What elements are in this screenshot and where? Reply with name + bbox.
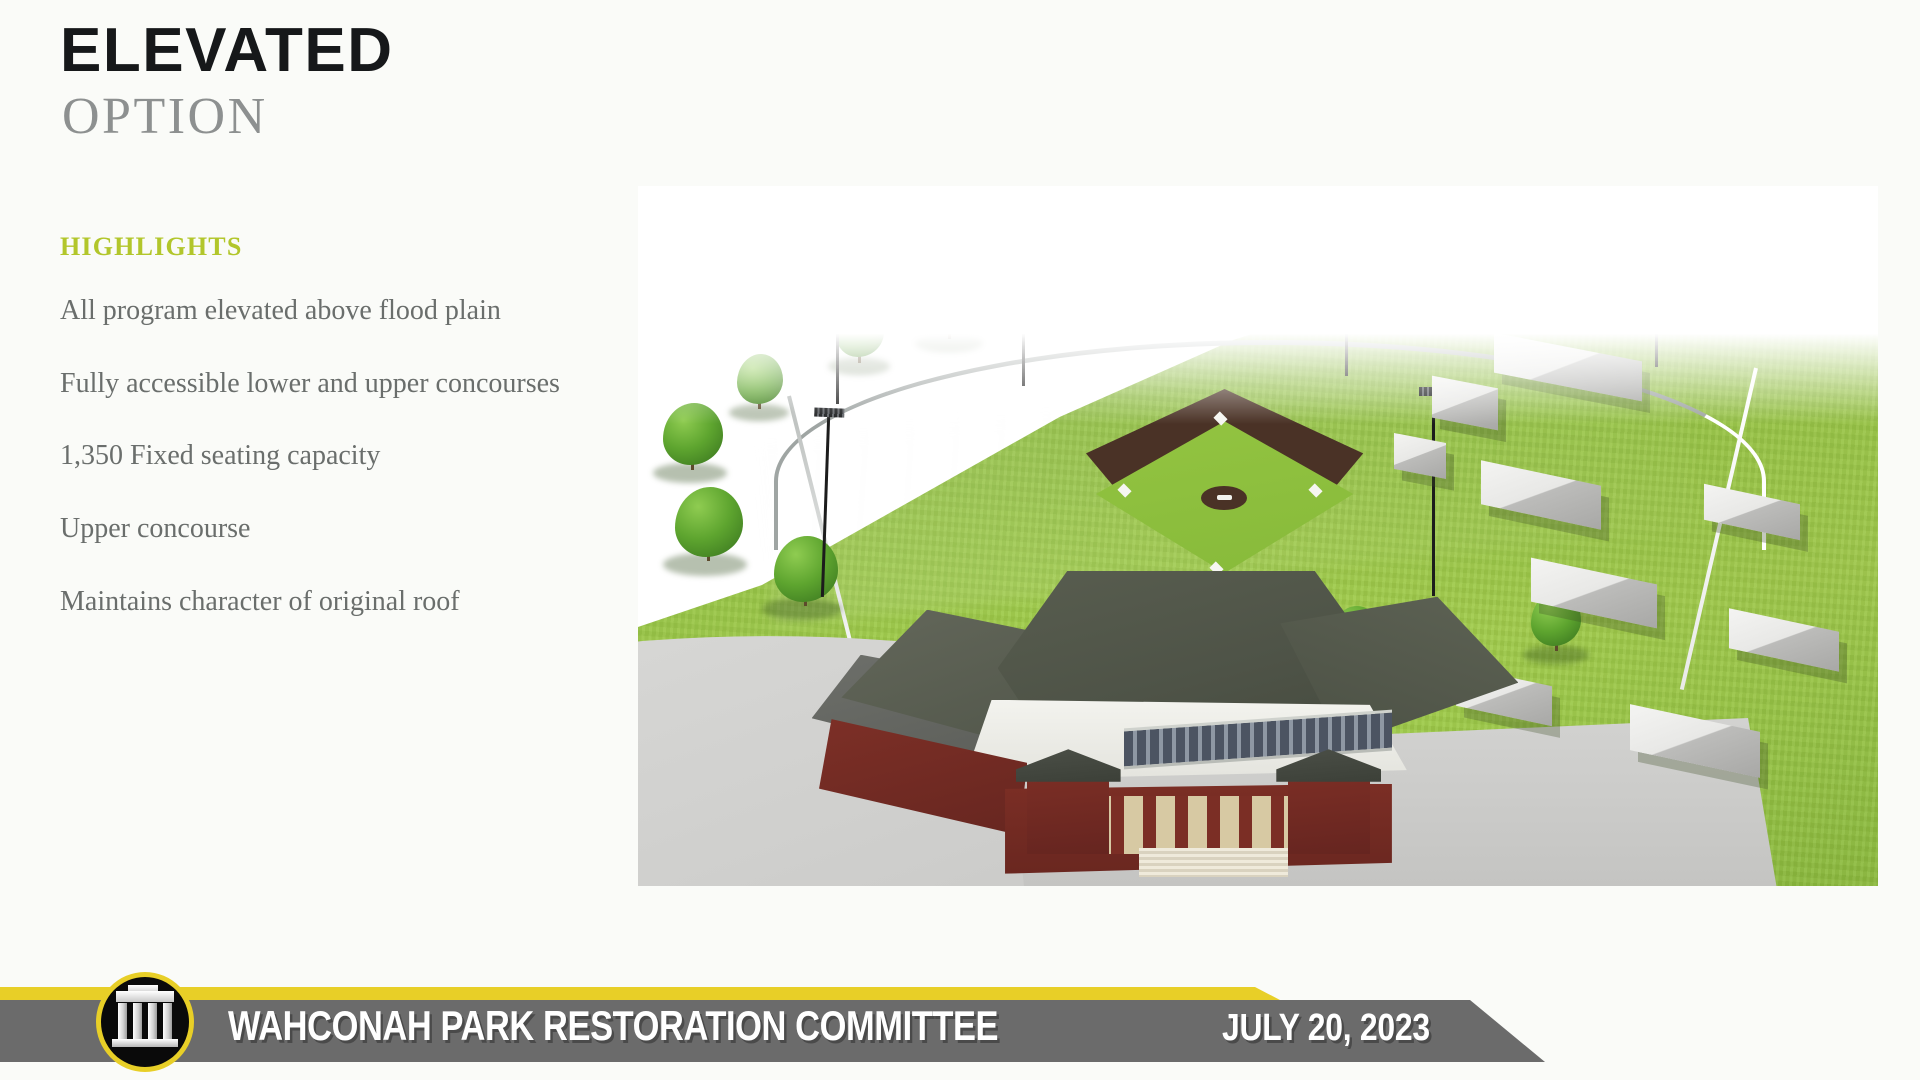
stadium-light-pole [836,214,839,404]
pitchers-mound [1201,486,1247,510]
ballpark-rendering-image [638,186,1878,886]
footer-accent-stripe [0,987,1280,1000]
highlights-heading: HIGHLIGHTS [60,232,620,262]
highlights-section: HIGHLIGHTS All program elevated above fl… [60,232,620,621]
page-subtitle: OPTION [62,90,780,145]
slide-title-block: ELEVATED OPTION [60,20,780,145]
highlight-item-4: Upper concourse [60,510,600,549]
highlight-item-1: All program elevated above flood plain [60,292,600,331]
highlight-item-3: 1,350 Fixed seating capacity [60,437,600,476]
highlight-item-5: Maintains character of original roof [60,583,600,622]
stadium-grandstand-building [812,571,1556,886]
entry-tower-right [1288,777,1370,854]
stadium-light-pole [1432,396,1435,596]
footer-committee-title: WAHCONAH PARK RESTORATION COMMITTEE [228,1002,998,1050]
slide-footer: WAHCONAH PARK RESTORATION COMMITTEE JULY… [0,970,1920,1080]
stadium-light-pole [1022,186,1025,386]
stadium-light-pole [1345,186,1348,376]
page-title: ELEVATED [60,20,780,82]
presentation-slide: ELEVATED OPTION HIGHLIGHTS All program e… [0,0,1920,1080]
footer-date: JULY 20, 2023 [1222,1007,1430,1050]
entry-tower-left [1027,777,1109,854]
wahconah-park-grandstand-logo [96,972,194,1072]
entry-steps [1139,848,1288,877]
highlight-item-2: Fully accessible lower and upper concour… [60,365,600,404]
